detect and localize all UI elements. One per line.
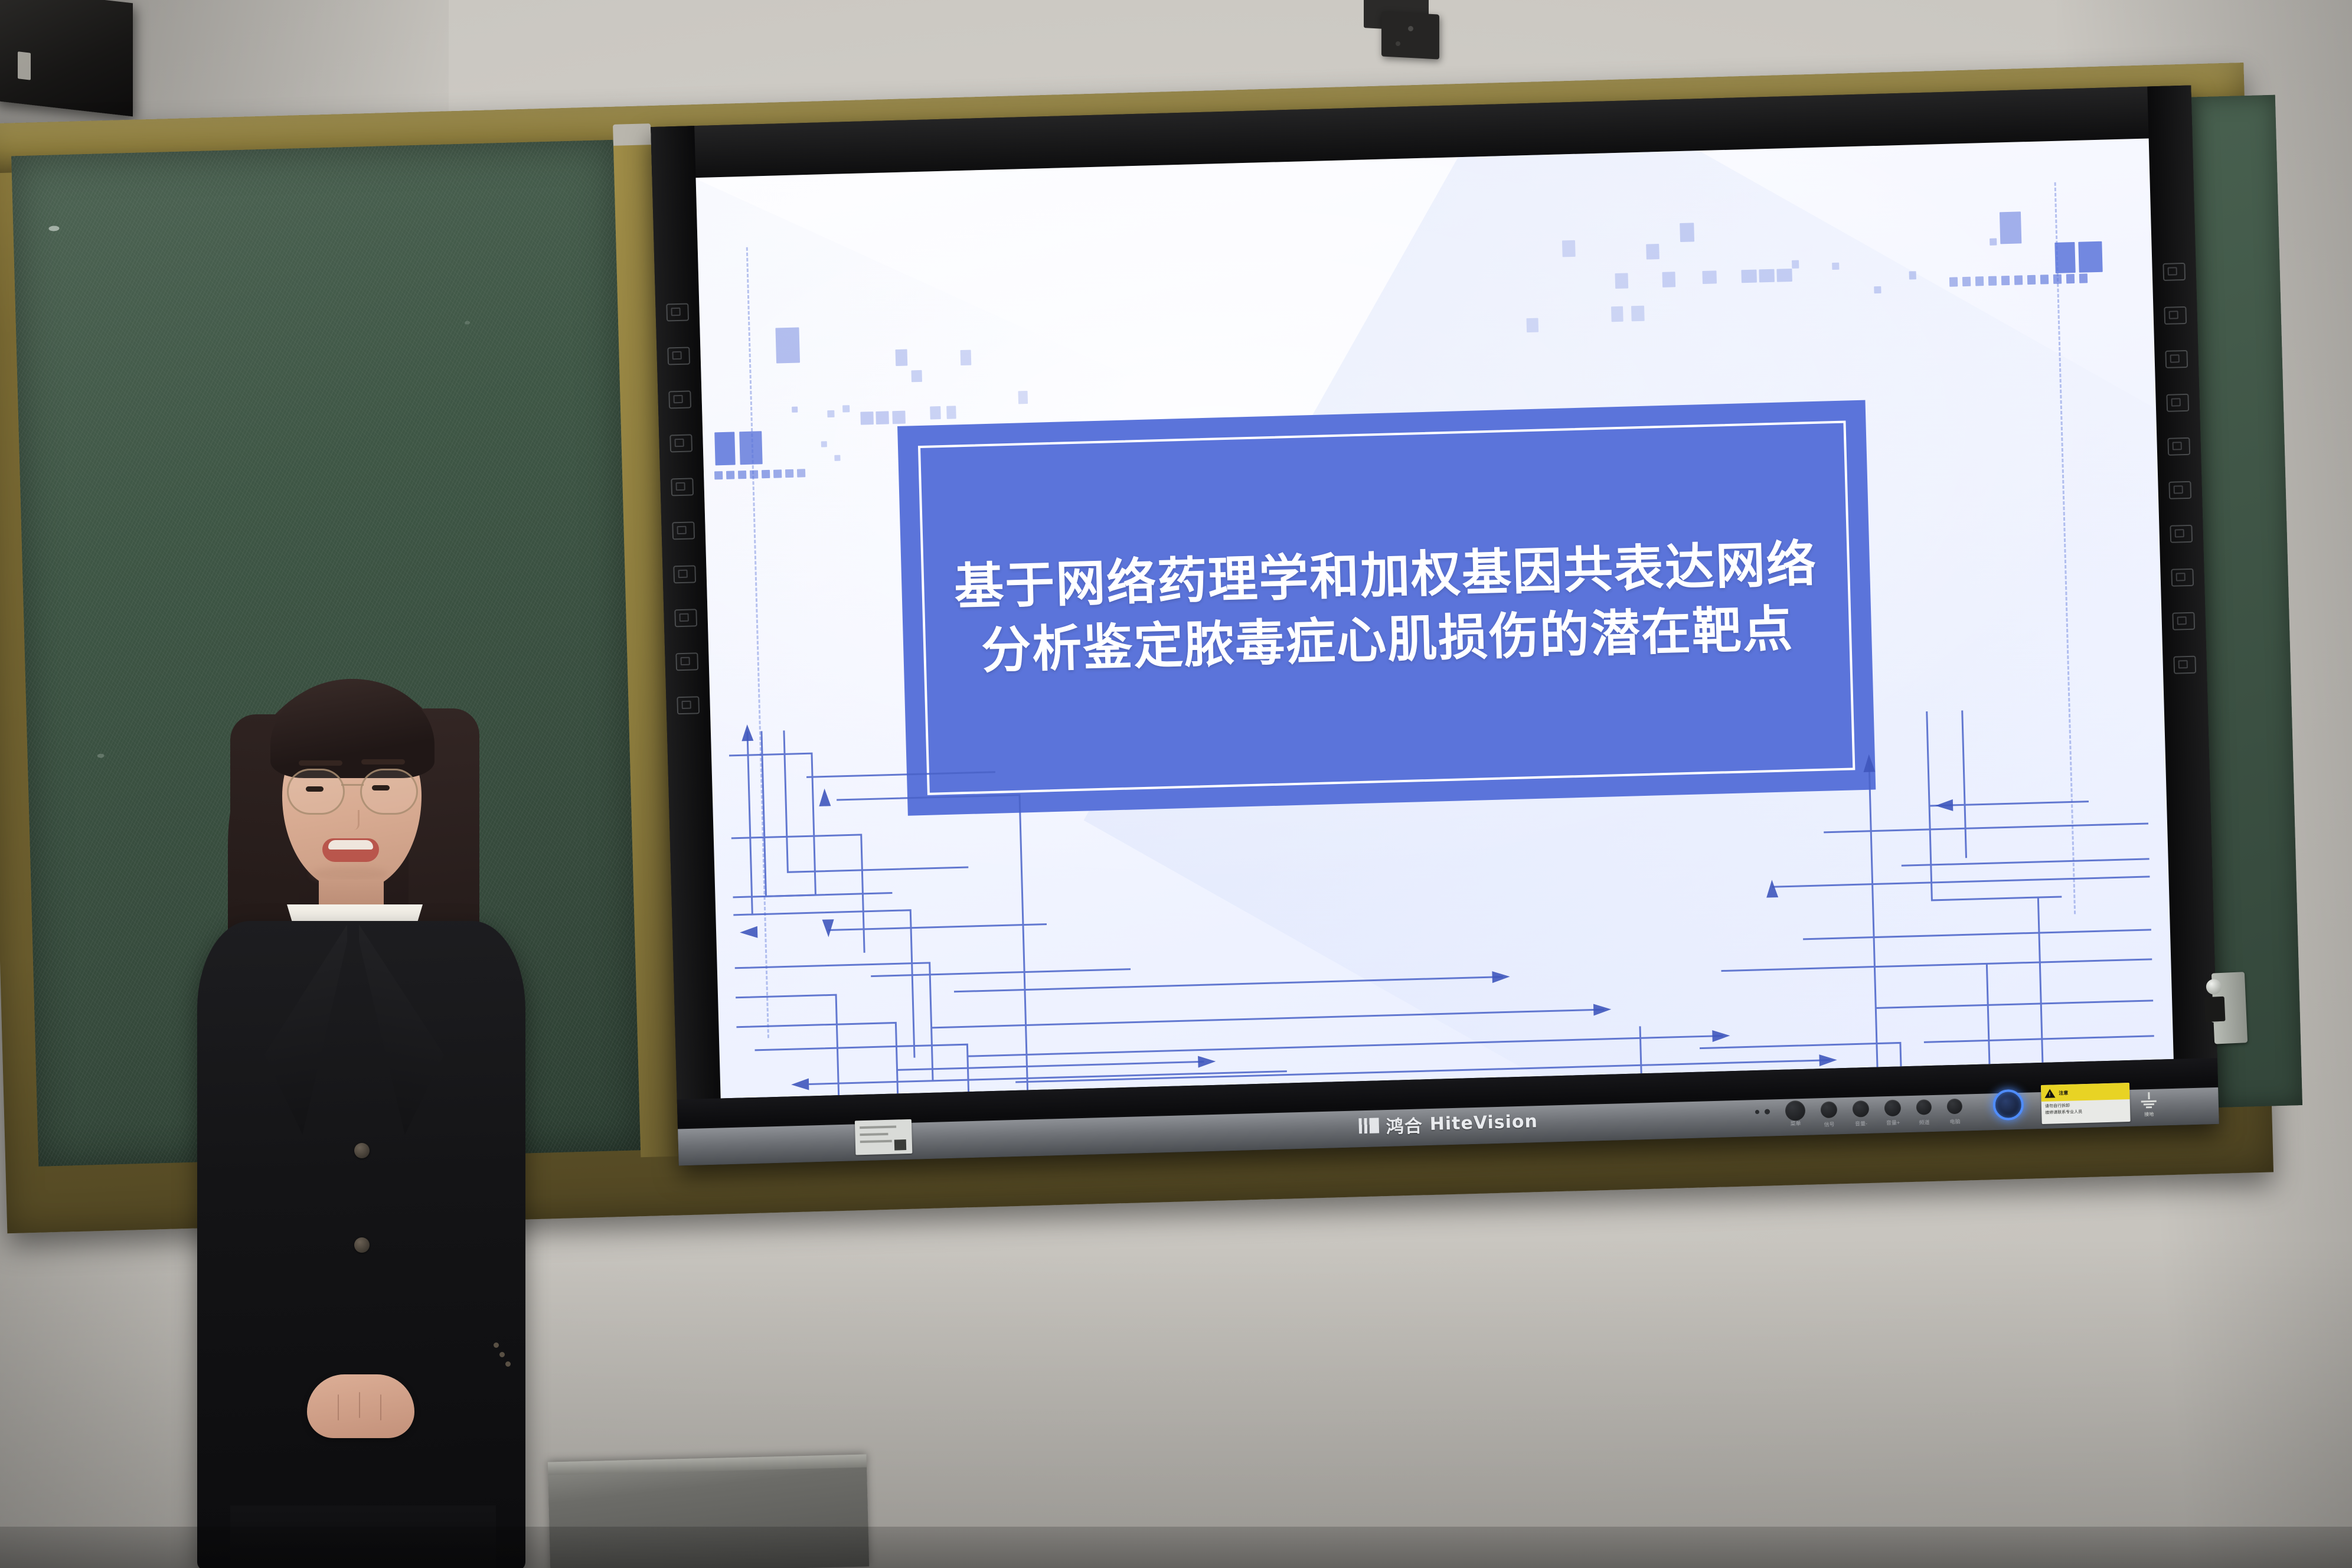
select-icon[interactable]: [672, 521, 695, 540]
cuff-button: [499, 1352, 505, 1357]
back-icon[interactable]: [2173, 656, 2196, 674]
timer-icon[interactable]: [2171, 569, 2194, 587]
annotate-icon[interactable]: [2162, 263, 2186, 281]
jacket-button: [354, 1143, 370, 1158]
bracket-screw-icon: [1396, 41, 1400, 46]
presenter-brow-right: [361, 759, 405, 765]
glasses-bridge: [341, 784, 364, 786]
panel-control-row[interactable]: 菜单 信号 音量- 音量+: [1755, 1089, 2024, 1127]
presenter-hands: [307, 1374, 414, 1438]
glasses-lens-right: [360, 769, 418, 815]
floor-shadow: [0, 1527, 2352, 1568]
bracket-screw-icon: [1408, 26, 1413, 31]
speaker-led-icon: [18, 51, 31, 80]
presenter-brow-left: [299, 760, 342, 766]
presenter-eye-right: [372, 785, 390, 790]
back-icon[interactable]: [677, 696, 700, 714]
brand-logo: 鸿合 HiteVision: [1358, 1108, 1538, 1139]
brand-name: HiteVision: [1429, 1111, 1538, 1135]
power-button[interactable]: [1992, 1089, 2024, 1121]
pen-icon[interactable]: [2166, 394, 2189, 412]
ground-label: 接地: [2144, 1111, 2154, 1118]
menu-button[interactable]: 菜单: [1785, 1100, 1806, 1121]
slide-circuit-decoration: [710, 681, 2173, 1098]
spotlight-icon[interactable]: [673, 565, 696, 583]
whiteboard-icon[interactable]: [2165, 350, 2188, 368]
ground-symbol-icon: 接地: [2135, 1087, 2162, 1118]
presenter: [142, 643, 638, 1568]
inventory-sticker: [855, 1119, 913, 1155]
presenter-nose: [345, 810, 360, 830]
volume-down-button[interactable]: 音量-: [1853, 1100, 1870, 1118]
presenter-hair-front: [270, 679, 435, 778]
annotate-icon[interactable]: [666, 303, 689, 322]
screenshot-icon[interactable]: [667, 347, 690, 365]
slide-title: 基于网络药理学和加权基因共表达网络 分析鉴定脓毒症心肌损伤的潜在靶点: [901, 530, 1872, 685]
select-icon[interactable]: [2168, 481, 2191, 499]
interactive-flat-panel[interactable]: 基于网络药理学和加权基因共表达网络 分析鉴定脓毒症心肌损伤的潜在靶点: [651, 86, 2219, 1166]
brand-mark-cn: 鸿合: [1386, 1111, 1423, 1138]
whiteboard-icon[interactable]: [668, 390, 691, 409]
source-button[interactable]: 信号: [1821, 1101, 1838, 1118]
volume-up-button[interactable]: 音量+: [1884, 1099, 1902, 1116]
presenter-mouth: [322, 838, 379, 862]
glasses-lens-left: [287, 769, 345, 815]
slide-screen[interactable]: 基于网络药理学和加权基因共表达网络 分析鉴定脓毒症心肌损伤的潜在靶点: [696, 138, 2174, 1098]
eraser-icon[interactable]: [2167, 437, 2190, 456]
home-icon[interactable]: [675, 652, 698, 671]
pen-icon[interactable]: [669, 434, 692, 452]
ir-receiver: [1755, 1109, 1770, 1115]
pc-button[interactable]: 电脑: [1947, 1099, 1963, 1115]
sticker-barcode-icon: [894, 1139, 906, 1151]
cuff-button: [505, 1361, 511, 1367]
presenter-teeth: [328, 840, 373, 850]
jacket-button: [354, 1237, 370, 1253]
eraser-icon[interactable]: [671, 478, 694, 496]
presenter-eye-left: [306, 786, 324, 792]
warning-label: 注意 请勿自行拆卸 维修请联系专业人员: [2041, 1083, 2131, 1124]
spotlight-icon[interactable]: [2170, 525, 2193, 543]
classroom-scene: 基于网络药理学和加权基因共表达网络 分析鉴定脓毒症心肌损伤的潜在靶点: [0, 0, 2352, 1568]
board-divider-cap: [613, 123, 651, 146]
timer-icon[interactable]: [674, 609, 697, 627]
channel-button[interactable]: 频道: [1916, 1099, 1932, 1115]
warning-title: 注意: [2059, 1089, 2068, 1096]
hitevision-logo-icon: [1358, 1118, 1379, 1133]
warning-triangle-icon: [2044, 1089, 2055, 1097]
screenshot-icon[interactable]: [2164, 306, 2187, 325]
home-icon[interactable]: [2172, 612, 2195, 631]
cuff-button: [494, 1342, 499, 1348]
frame-hinge: [2211, 972, 2248, 1044]
